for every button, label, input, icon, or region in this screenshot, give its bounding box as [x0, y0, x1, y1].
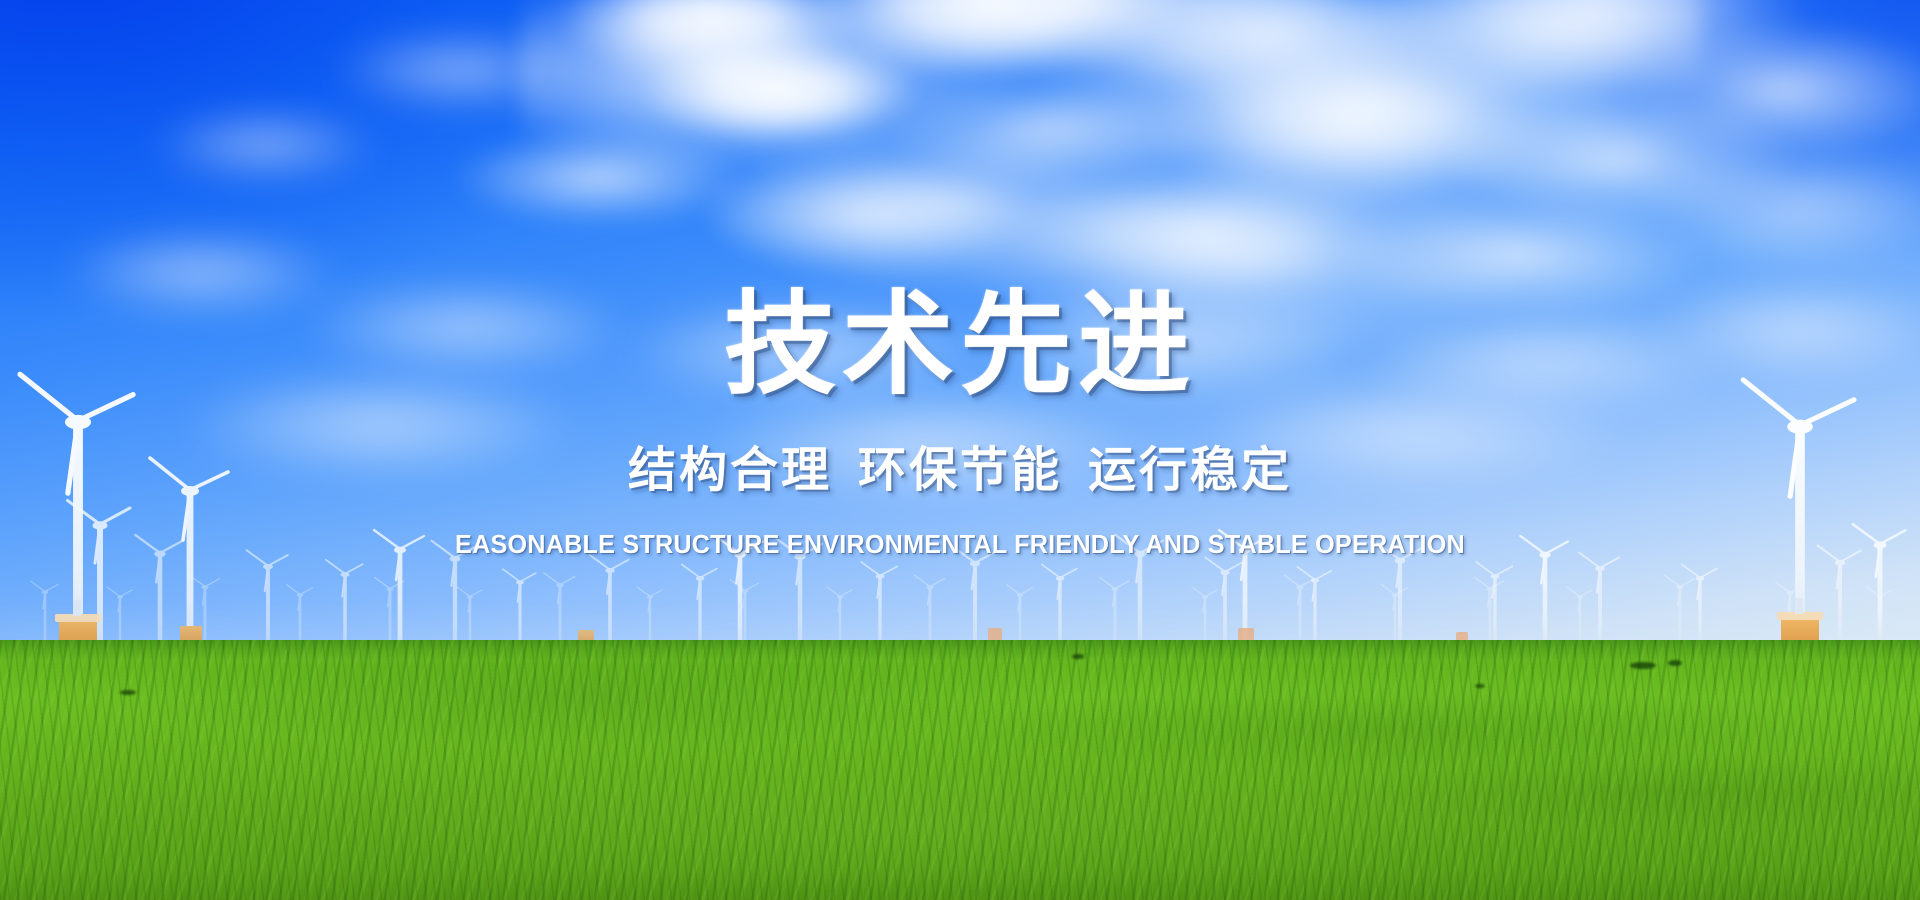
grass-texture	[0, 640, 1920, 900]
hero-banner: 技术先进 结构合理环保节能运行稳定 EASONABLE STRUCTURE EN…	[0, 0, 1920, 900]
grass-spot	[1668, 660, 1682, 666]
grass-spot	[1630, 662, 1656, 669]
grass-spot	[1072, 654, 1084, 659]
grass-spot	[1475, 684, 1485, 688]
grass-spot	[120, 690, 136, 695]
wind-turbine-farm	[0, 0, 1920, 648]
